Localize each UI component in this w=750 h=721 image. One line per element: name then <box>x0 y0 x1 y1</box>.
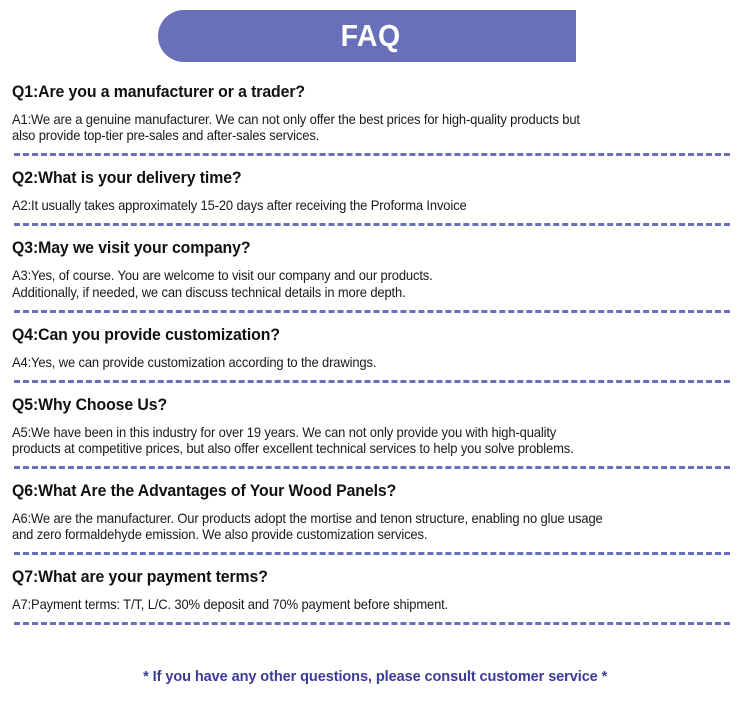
faq-question: Q2:What is your delivery time? <box>12 156 711 188</box>
faq-footer: * If you have any other questions, pleas… <box>0 668 750 686</box>
faq-banner: FAQ <box>0 0 750 70</box>
faq-item: Q5:Why Choose Us?A5:We have been in this… <box>0 383 750 469</box>
faq-question: Q7:What are your payment terms? <box>12 555 711 587</box>
faq-item: Q2:What is your delivery time?A2:It usua… <box>0 156 750 226</box>
faq-item: Q4:Can you provide customization?A4:Yes,… <box>0 313 750 383</box>
faq-item: Q1:Are you a manufacturer or a trader?A1… <box>0 70 750 156</box>
faq-list: Q1:Are you a manufacturer or a trader?A1… <box>0 70 750 625</box>
faq-item: Q3:May we visit your company?A3:Yes, of … <box>0 226 750 312</box>
faq-question: Q6:What Are the Advantages of Your Wood … <box>12 469 711 501</box>
faq-answer-line: A1:We are a genuine manufacturer. We can… <box>12 112 707 128</box>
faq-answer: A3:Yes, of course. You are welcome to vi… <box>12 268 707 300</box>
faq-answer-line: also provide top-tier pre-sales and afte… <box>12 128 707 144</box>
faq-answer-line: A2:It usually takes approximately 15-20 … <box>12 198 707 214</box>
footer-note: * If you have any other questions, pleas… <box>143 668 607 685</box>
faq-question: Q1:Are you a manufacturer or a trader? <box>12 70 711 102</box>
faq-answer-line: A4:Yes, we can provide customization acc… <box>12 355 707 371</box>
faq-answer: A4:Yes, we can provide customization acc… <box>12 355 707 371</box>
faq-answer-line: A3:Yes, of course. You are welcome to vi… <box>12 268 707 284</box>
faq-question: Q4:Can you provide customization? <box>12 313 711 345</box>
faq-answer: A7:Payment terms: T/T, L/C. 30% deposit … <box>12 597 707 613</box>
faq-answer-line: A6:We are the manufacturer. Our products… <box>12 511 707 527</box>
faq-answer-line: products at competitive prices, but also… <box>12 441 707 457</box>
faq-banner-title: FAQ <box>341 20 401 51</box>
faq-answer-line: A7:Payment terms: T/T, L/C. 30% deposit … <box>12 597 707 613</box>
faq-question: Q3:May we visit your company? <box>12 226 711 258</box>
faq-item: Q6:What Are the Advantages of Your Wood … <box>0 469 750 555</box>
faq-answer-line: and zero formaldehyde emission. We also … <box>12 527 707 543</box>
faq-answer-line: A5:We have been in this industry for ove… <box>12 425 707 441</box>
faq-answer: A5:We have been in this industry for ove… <box>12 425 707 457</box>
faq-question: Q5:Why Choose Us? <box>12 383 711 415</box>
faq-answer-line: Additionally, if needed, we can discuss … <box>12 285 707 301</box>
faq-item: Q7:What are your payment terms?A7:Paymen… <box>0 555 750 625</box>
faq-answer: A6:We are the manufacturer. Our products… <box>12 511 707 543</box>
faq-answer: A1:We are a genuine manufacturer. We can… <box>12 112 707 144</box>
faq-answer: A2:It usually takes approximately 15-20 … <box>12 198 707 214</box>
faq-divider <box>14 622 730 625</box>
faq-banner-shape: FAQ <box>158 10 576 62</box>
